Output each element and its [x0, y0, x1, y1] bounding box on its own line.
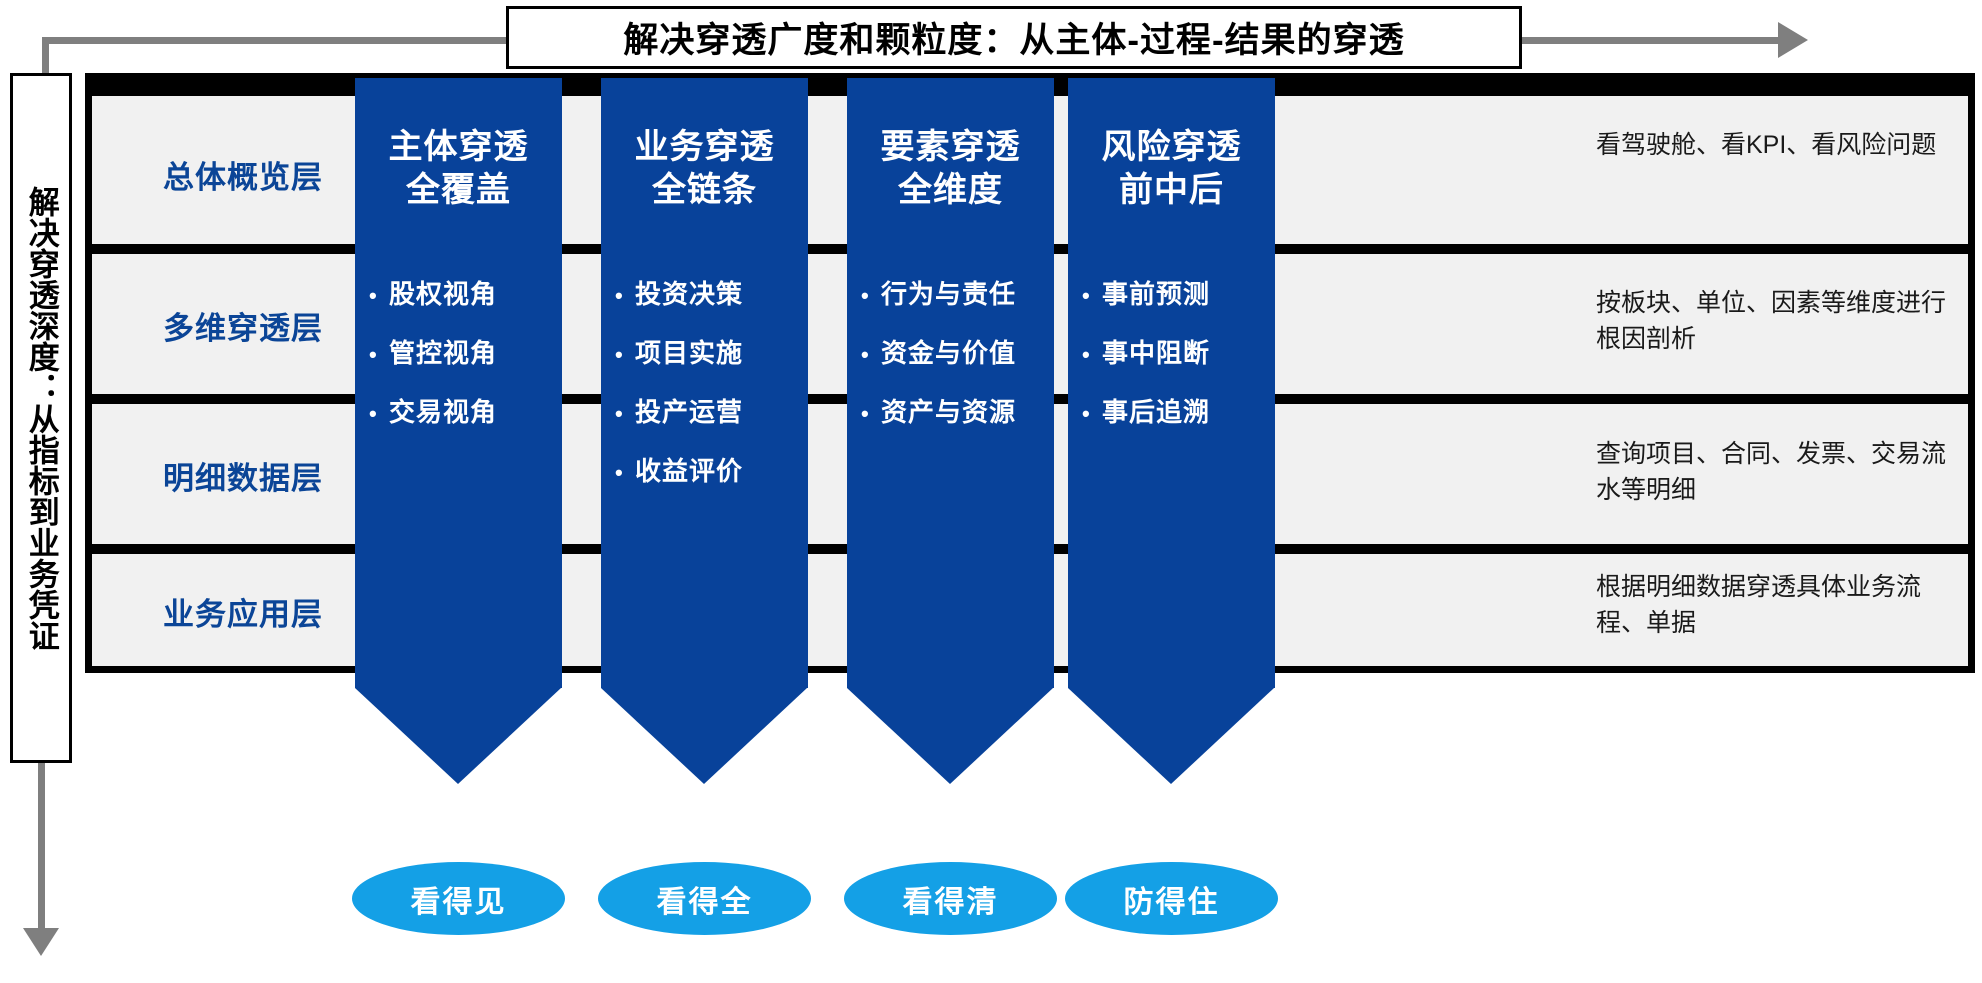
list-item[interactable]: •项目实施 — [615, 333, 808, 370]
bullet-label: 行为与责任 — [881, 274, 1016, 311]
list-item[interactable]: •管控视角 — [369, 333, 562, 370]
list-item[interactable]: •资产与资源 — [861, 392, 1054, 429]
row-label-1: 总体概览层 — [118, 152, 368, 197]
arrow-down-tip-icon — [355, 688, 561, 784]
bullet-label: 事前预测 — [1102, 274, 1210, 311]
bullet-label: 事后追溯 — [1102, 392, 1210, 429]
bullet-dot-icon: • — [369, 344, 389, 366]
arrow-title-line1: 风险穿透 — [1068, 126, 1275, 169]
arrow-down-icon — [23, 928, 59, 956]
bullet-label: 事中阻断 — [1102, 333, 1210, 370]
arrow-bullet-list-4: •事前预测•事中阻断•事后追溯 — [1082, 274, 1275, 451]
bullet-dot-icon: • — [369, 285, 389, 307]
arrow-title-3: 要素穿透全维度 — [847, 126, 1054, 212]
list-item[interactable]: •投产运营 — [615, 392, 808, 429]
row-label-3: 明细数据层 — [118, 453, 368, 498]
banner-title-box: 解决穿透广度和颗粒度：从主体-过程-结果的穿透 — [506, 6, 1522, 69]
bullet-dot-icon: • — [1082, 403, 1102, 425]
list-item[interactable]: •投资决策 — [615, 274, 808, 311]
row-description-3: 查询项目、合同、发票、交易流水等明细 — [1596, 437, 1946, 508]
row-description-4: 根据明细数据穿透具体业务流程、单据 — [1596, 570, 1946, 641]
arrow-title-line2: 全维度 — [847, 169, 1054, 212]
banner-title-text: 解决穿透广度和颗粒度：从主体-过程-结果的穿透 — [623, 12, 1404, 63]
outcome-pill-label: 看得全 — [657, 877, 753, 921]
bullet-label: 项目实施 — [635, 333, 743, 370]
outcome-pill-2[interactable]: 看得全 — [598, 862, 811, 935]
bullet-label: 交易视角 — [389, 392, 497, 429]
arrow-title-2: 业务穿透全链条 — [601, 126, 808, 212]
arrow-down-tip-icon — [1068, 688, 1274, 784]
bullet-dot-icon: • — [615, 462, 635, 484]
arrow-column-2[interactable]: 业务穿透全链条•投资决策•项目实施•投产运营•收益评价 — [601, 78, 808, 688]
arrow-column-1[interactable]: 主体穿透全覆盖•股权视角•管控视角•交易视角 — [355, 78, 562, 688]
outcome-pill-label: 防得住 — [1124, 877, 1220, 921]
outcome-pill-1[interactable]: 看得见 — [352, 862, 565, 935]
arrow-bullet-list-2: •投资决策•项目实施•投产运营•收益评价 — [615, 274, 808, 510]
arrow-body: 要素穿透全维度•行为与责任•资金与价值•资产与资源 — [847, 78, 1054, 688]
outcome-pill-label: 看得见 — [411, 877, 507, 921]
list-item[interactable]: •事中阻断 — [1082, 333, 1275, 370]
arrow-right-icon — [1778, 22, 1808, 58]
list-item[interactable]: •交易视角 — [369, 392, 562, 429]
arrow-body: 风险穿透前中后•事前预测•事中阻断•事后追溯 — [1068, 78, 1275, 688]
bullet-dot-icon: • — [615, 285, 635, 307]
bullet-dot-icon: • — [861, 344, 881, 366]
list-item[interactable]: •事前预测 — [1082, 274, 1275, 311]
bullet-label: 资金与价值 — [881, 333, 1016, 370]
arrow-body: 业务穿透全链条•投资决策•项目实施•投产运营•收益评价 — [601, 78, 808, 688]
bullet-label: 股权视角 — [389, 274, 497, 311]
bullet-dot-icon: • — [861, 403, 881, 425]
arrow-title-line1: 主体穿透 — [355, 126, 562, 169]
list-item[interactable]: •收益评价 — [615, 451, 808, 488]
bullet-dot-icon: • — [615, 344, 635, 366]
diagram-canvas: 解决穿透广度和颗粒度：从主体-过程-结果的穿透 解决穿透深度：从指标到业务凭证 … — [0, 0, 1982, 983]
row-description-1: 看驾驶舱、看KPI、看风险问题 — [1596, 128, 1946, 164]
arrow-down-tip-icon — [601, 688, 807, 784]
bullet-label: 投资决策 — [635, 274, 743, 311]
vertical-axis-label-box: 解决穿透深度：从指标到业务凭证 — [10, 73, 72, 763]
outcome-pill-4[interactable]: 防得住 — [1065, 862, 1278, 935]
bullet-dot-icon: • — [1082, 285, 1102, 307]
outcome-pill-3[interactable]: 看得清 — [844, 862, 1057, 935]
arrow-column-3[interactable]: 要素穿透全维度•行为与责任•资金与价值•资产与资源 — [847, 78, 1054, 688]
bullet-label: 资产与资源 — [881, 392, 1016, 429]
arrow-title-line1: 业务穿透 — [601, 126, 808, 169]
arrow-bullet-list-3: •行为与责任•资金与价值•资产与资源 — [861, 274, 1054, 451]
list-item[interactable]: •行为与责任 — [861, 274, 1054, 311]
arrow-title-line2: 全覆盖 — [355, 169, 562, 212]
row-description-2: 按板块、单位、因素等维度进行根因剖析 — [1596, 286, 1946, 357]
bullet-dot-icon: • — [1082, 344, 1102, 366]
bullet-dot-icon: • — [369, 403, 389, 425]
arrow-column-4[interactable]: 风险穿透前中后•事前预测•事中阻断•事后追溯 — [1068, 78, 1275, 688]
arrow-title-line2: 全链条 — [601, 169, 808, 212]
arrow-title-line1: 要素穿透 — [847, 126, 1054, 169]
bullet-label: 收益评价 — [635, 451, 743, 488]
list-item[interactable]: •资金与价值 — [861, 333, 1054, 370]
bullet-label: 投产运营 — [635, 392, 743, 429]
list-item[interactable]: •股权视角 — [369, 274, 562, 311]
vertical-axis-label-text: 解决穿透深度：从指标到业务凭证 — [25, 186, 57, 651]
arrow-down-tip-icon — [847, 688, 1053, 784]
row-label-2: 多维穿透层 — [118, 303, 368, 348]
arrow-title-1: 主体穿透全覆盖 — [355, 126, 562, 212]
outcome-pill-label: 看得清 — [903, 877, 999, 921]
left-arrow-stem — [38, 763, 45, 933]
arrow-title-line2: 前中后 — [1068, 169, 1275, 212]
list-item[interactable]: •事后追溯 — [1082, 392, 1275, 429]
arrow-bullet-list-1: •股权视角•管控视角•交易视角 — [369, 274, 562, 451]
arrow-body: 主体穿透全覆盖•股权视角•管控视角•交易视角 — [355, 78, 562, 688]
row-label-4: 业务应用层 — [118, 589, 368, 634]
bullet-label: 管控视角 — [389, 333, 497, 370]
bullet-dot-icon: • — [615, 403, 635, 425]
arrow-title-4: 风险穿透前中后 — [1068, 126, 1275, 212]
bullet-dot-icon: • — [861, 285, 881, 307]
